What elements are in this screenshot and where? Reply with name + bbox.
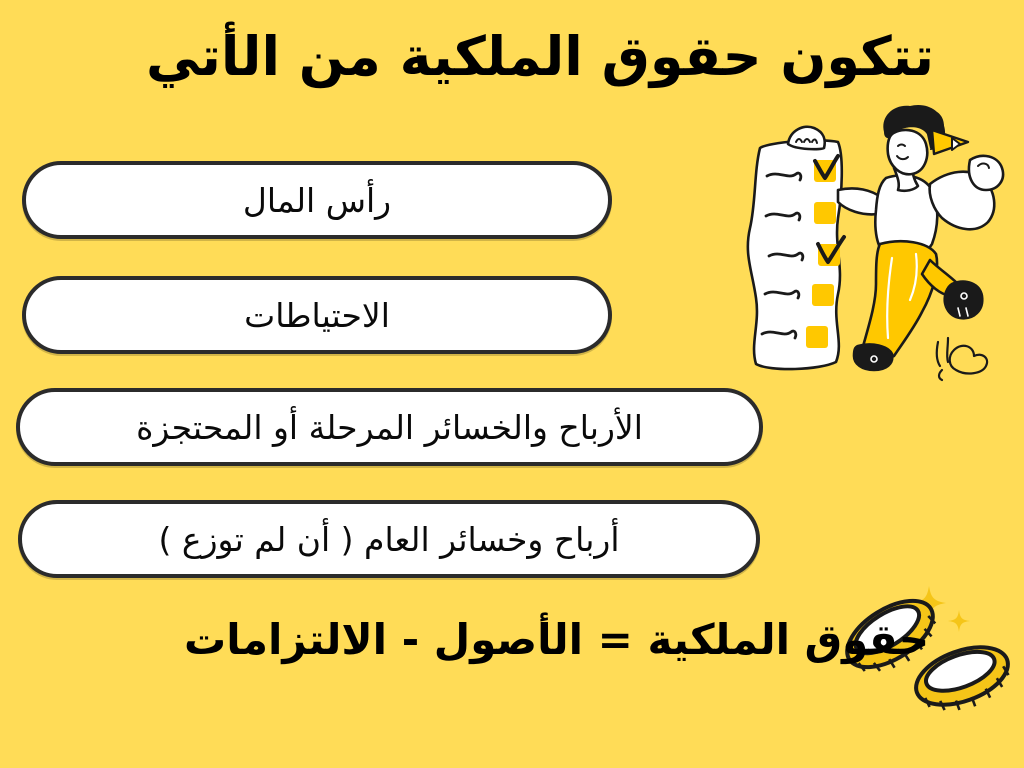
page-title: تتكون حقوق الملكية من الأتي	[124, 28, 934, 86]
list-item[interactable]: الأرباح والخسائر المرحلة أو المحتجزة	[16, 388, 763, 466]
list-item-label: أرباح وخسائر العام ( أن لم توزع )	[159, 520, 620, 559]
person-with-checklist-illustration	[726, 98, 1024, 398]
list-item[interactable]: رأس المال	[22, 161, 612, 239]
equity-formula: حقوق الملكية = الأصول - الالتزامات	[159, 617, 929, 663]
list-item-label: الأرباح والخسائر المرحلة أو المحتجزة	[136, 408, 643, 447]
list-item[interactable]: الاحتياطات	[22, 276, 612, 354]
slide-canvas: تتكون حقوق الملكية من الأتي	[0, 0, 1024, 768]
list-item[interactable]: أرباح وخسائر العام ( أن لم توزع )	[18, 500, 760, 578]
list-item-label: الاحتياطات	[244, 296, 390, 335]
list-item-label: رأس المال	[243, 181, 391, 220]
